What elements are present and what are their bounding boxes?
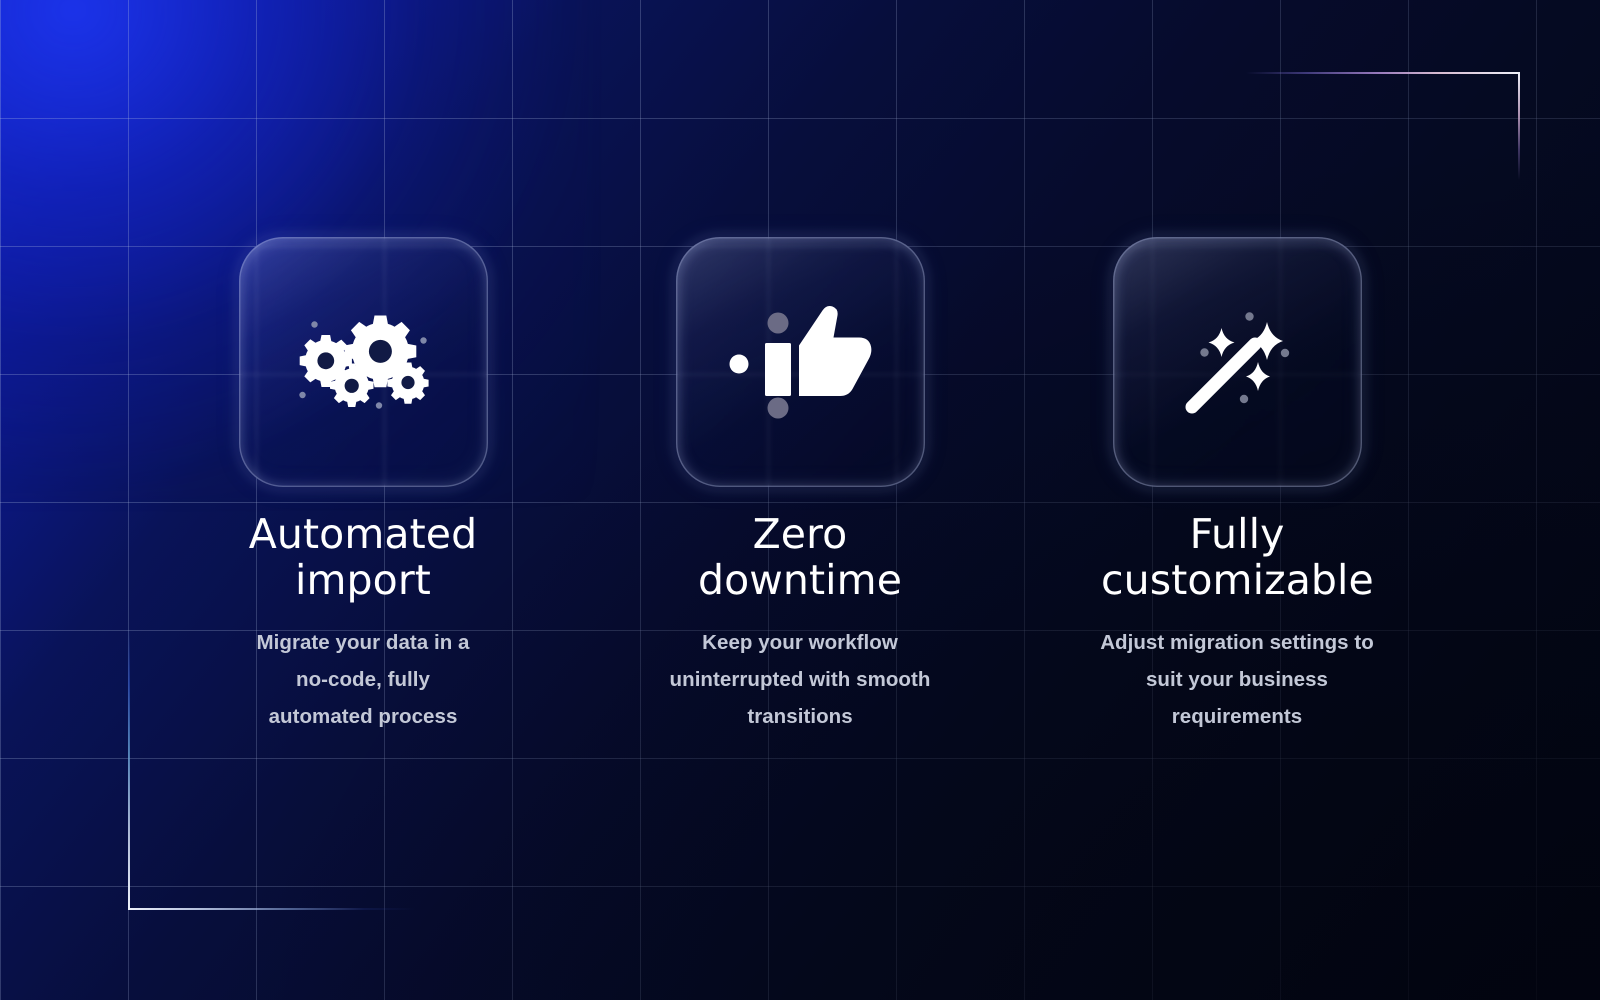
feature-icon-tile — [239, 237, 488, 487]
feature-title-line-2: import — [295, 556, 431, 604]
feature-title: Zero downtime — [664, 511, 936, 603]
feature-icon-tile — [1113, 237, 1362, 487]
feature-card-zero-downtime[interactable]: Zero downtime Keep your workflow uninter… — [675, 237, 925, 735]
feature-desc-line-2: suit your business — [1146, 668, 1328, 691]
corner-bracket-top-right-horizontal — [1246, 72, 1520, 74]
feature-desc-line-3: automated process — [269, 705, 458, 728]
accent-dot — [730, 355, 749, 374]
feature-desc-line-1: Keep your workflow — [702, 631, 898, 654]
gears-icon — [296, 307, 431, 417]
feature-card-fully-customizable[interactable]: Fully customizable Adjust migration sett… — [1112, 237, 1362, 735]
feature-title-line-2: customizable — [1101, 556, 1374, 604]
feature-title: Fully customizable — [1101, 511, 1373, 603]
feature-section: Automated import Migrate your data in a … — [0, 0, 1600, 1000]
feature-title-line-1: Zero — [753, 510, 848, 558]
feature-desc-line-1: Migrate your data in a — [257, 631, 470, 654]
feature-desc-line-1: Adjust migration settings to — [1100, 631, 1374, 654]
corner-bracket-top-right-vertical — [1518, 72, 1520, 180]
feature-title-line-1: Fully — [1190, 510, 1285, 558]
magic-wand-icon — [1177, 302, 1297, 422]
feature-card-list: Automated import Migrate your data in a … — [0, 237, 1600, 735]
feature-desc-line-3: requirements — [1172, 705, 1302, 728]
accent-dot — [768, 398, 789, 419]
feature-card-automated-import[interactable]: Automated import Migrate your data in a … — [238, 237, 488, 735]
feature-title: Automated import — [227, 511, 499, 603]
feature-desc-line-2: uninterrupted with smooth — [670, 668, 931, 691]
feature-desc-line-3: transitions — [747, 705, 852, 728]
feature-title-line-2: downtime — [698, 556, 902, 604]
feature-description: Migrate your data in a no-code, fully au… — [213, 624, 513, 735]
accent-dot — [768, 313, 789, 334]
feature-title-line-1: Automated — [249, 510, 477, 558]
corner-bracket-bottom-left-horizontal — [128, 908, 416, 910]
feature-description: Keep your workflow uninterrupted with sm… — [650, 624, 950, 735]
feature-description: Adjust migration settings to suit your b… — [1087, 624, 1387, 735]
feature-desc-line-2: no-code, fully — [296, 668, 430, 691]
feature-icon-tile — [676, 237, 925, 487]
thumbs-up-icon — [725, 304, 875, 420]
